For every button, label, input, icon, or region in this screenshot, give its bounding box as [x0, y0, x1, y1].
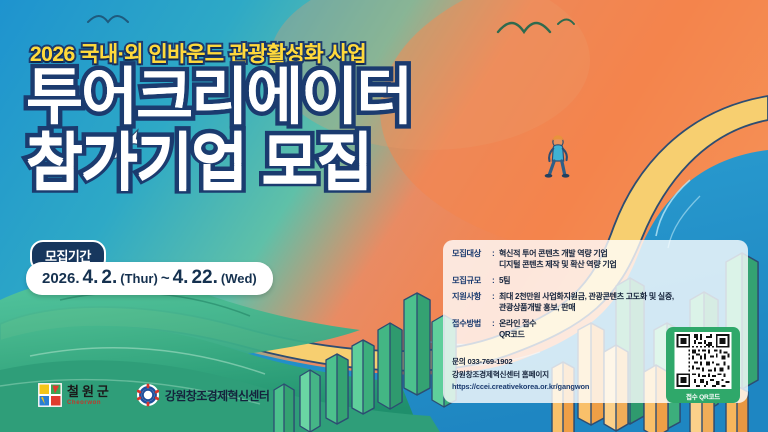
info-label-apply-method: 접수방법	[452, 319, 492, 341]
cheorwon-name-en: Cheorwon	[67, 400, 112, 406]
qr-caption: 접수 QR코드	[686, 391, 720, 401]
ccei-emblem-icon	[136, 383, 160, 407]
info-value-line: 관광상품개발 홍보, 판매	[499, 303, 674, 313]
info-value-line: 혁신적 투어 콘텐츠 개발 역량 기업	[499, 249, 616, 259]
logo-row: 철원군 Cheorwon 강원창조경제혁신센터	[38, 383, 269, 407]
info-value-line: QR코드	[499, 330, 536, 340]
cheorwon-emblem-icon	[38, 383, 62, 407]
info-value-line: 5팀	[499, 276, 510, 286]
info-colon: :	[492, 276, 499, 287]
qr-code-card[interactable]: 접수 QR코드	[666, 327, 740, 403]
date-day-end: 22.	[191, 267, 217, 289]
qr-code-image[interactable]	[672, 332, 734, 389]
info-value-line: 최대 2천만원 사업화지원금, 관광콘텐츠 고도화 및 실증,	[499, 292, 674, 302]
info-values-apply-method: 온라인 접수 QR코드	[499, 319, 536, 341]
date-day-start-weekday: (Thur)	[120, 271, 158, 286]
date-month-end: 4.	[173, 267, 189, 289]
date-day-end-weekday: (Wed)	[221, 271, 257, 286]
info-colon: :	[492, 249, 499, 271]
cheorwon-name-ko: 철원군	[67, 385, 112, 398]
logo-cheorwon: 철원군 Cheorwon	[38, 383, 112, 407]
info-row-scale: 모집규모 : 5팀	[452, 276, 737, 287]
info-row-target: 모집대상 : 혁신적 투어 콘텐츠 개발 역량 기업 디지털 콘텐츠 제작 및 …	[452, 249, 737, 271]
poster-canvas: 2026 국내·외 인바운드 관광활성화 사업 2026 국내·외 인바운드 관…	[0, 0, 768, 432]
info-value-line: 온라인 접수	[499, 319, 536, 329]
homepage-label: 강원창조경제혁신센터 홈페이지	[452, 369, 589, 380]
contact-block: 문의 033-769-1902 강원창조경제혁신센터 홈페이지 https://…	[452, 356, 589, 391]
info-values-support: 최대 2천만원 사업화지원금, 관광콘텐츠 고도화 및 실증, 관광상품개발 홍…	[499, 292, 674, 314]
date-year: 2026.	[42, 270, 80, 287]
homepage-url-link[interactable]: https://ccei.creativekorea.or.kr/gangwon	[452, 382, 589, 391]
title-line-2: 참가기업 모집	[26, 133, 371, 196]
info-values-scale: 5팀	[499, 276, 510, 287]
logo-ccei: 강원창조경제혁신센터	[136, 383, 269, 407]
info-colon: :	[492, 319, 499, 341]
info-label-target: 모집대상	[452, 249, 492, 271]
info-value-line: 디지털 콘텐츠 제작 및 확산 역량 기업	[499, 260, 616, 270]
info-label-scale: 모집규모	[452, 276, 492, 287]
info-row-support: 지원사항 : 최대 2천만원 사업화지원금, 관광콘텐츠 고도화 및 실증, 관…	[452, 292, 737, 314]
info-colon: :	[492, 292, 499, 314]
page-title: 투어크리에이터 투어크리에이터 참가기업 모집 참가기업 모집	[26, 66, 411, 194]
title-line-1: 투어크리에이터	[26, 66, 411, 129]
contact-phone: 문의 033-769-1902	[452, 356, 589, 367]
ccei-name: 강원창조경제혁신센터	[165, 387, 269, 404]
info-values-target: 혁신적 투어 콘텐츠 개발 역량 기업 디지털 콘텐츠 제작 및 확산 역량 기…	[499, 249, 616, 271]
date-month-start: 4.	[83, 267, 99, 289]
info-label-support: 지원사항	[452, 292, 492, 314]
date-day-start: 2.	[101, 267, 117, 289]
date-separator: ~	[161, 270, 170, 287]
recruitment-date-pill: 2026. 4. 2. (Thur) ~ 4. 22. (Wed)	[26, 262, 273, 295]
